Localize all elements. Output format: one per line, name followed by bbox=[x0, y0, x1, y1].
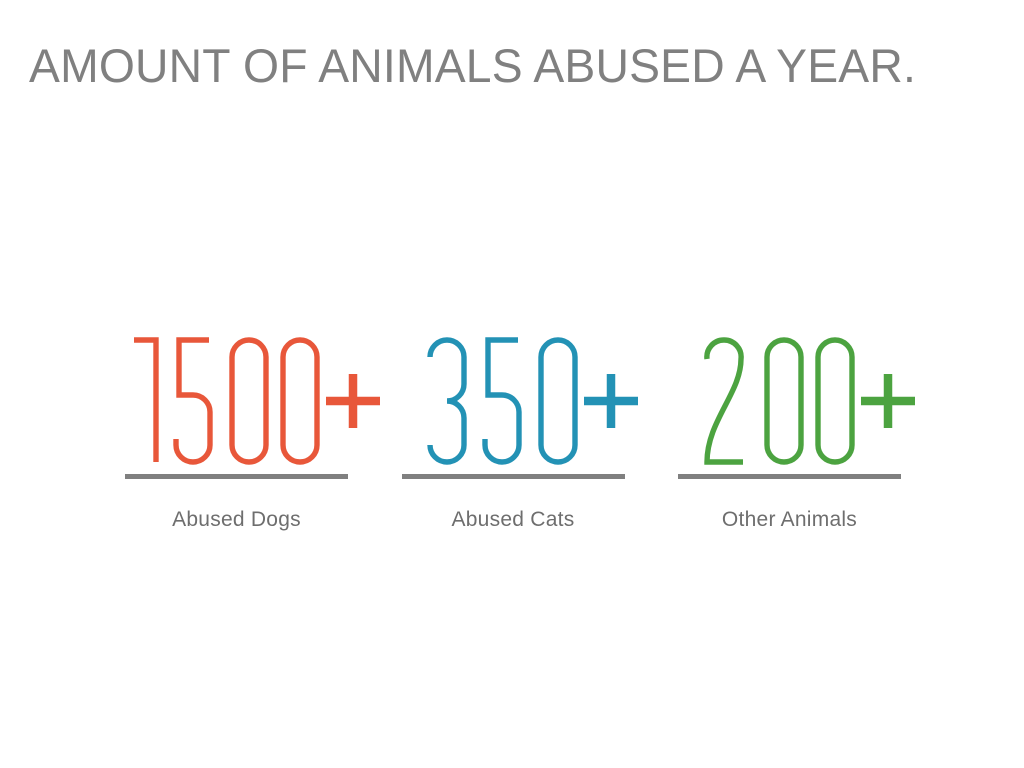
plus-sign-glyph bbox=[584, 374, 638, 428]
plus-sign-glyph bbox=[326, 374, 380, 428]
numeral-strokes-350 bbox=[430, 340, 575, 462]
stat-block-abused-dogs: Abused Dogs bbox=[125, 300, 348, 532]
stat-divider-rule bbox=[125, 474, 348, 479]
plus-sign-glyph bbox=[861, 374, 915, 428]
stat-divider-rule bbox=[402, 474, 625, 479]
stat-caption-abused-cats: Abused Cats bbox=[402, 508, 625, 532]
stat-value-abused-cats bbox=[402, 300, 625, 465]
big-number-350-plus-graphic bbox=[425, 335, 601, 465]
stat-caption-abused-dogs: Abused Dogs bbox=[125, 508, 348, 532]
stat-divider-rule bbox=[678, 474, 901, 479]
stat-block-abused-cats: Abused Cats bbox=[402, 300, 625, 532]
page-title: AMOUNT OF ANIMALS ABUSED A YEAR. bbox=[29, 38, 994, 94]
stat-value-other-animals bbox=[678, 300, 901, 465]
big-number-200-plus-graphic bbox=[702, 335, 878, 465]
stat-block-other-animals: Other Animals bbox=[678, 300, 901, 532]
stat-value-abused-dogs bbox=[125, 300, 348, 465]
stats-row: Abused Dogs bbox=[125, 300, 901, 540]
numeral-strokes-1500 bbox=[134, 340, 317, 462]
numeral-strokes-200 bbox=[706, 340, 851, 462]
stat-caption-other-animals: Other Animals bbox=[678, 508, 901, 532]
slide-canvas: AMOUNT OF ANIMALS ABUSED A YEAR. bbox=[0, 0, 1024, 768]
big-number-1500-plus-graphic bbox=[129, 335, 345, 465]
